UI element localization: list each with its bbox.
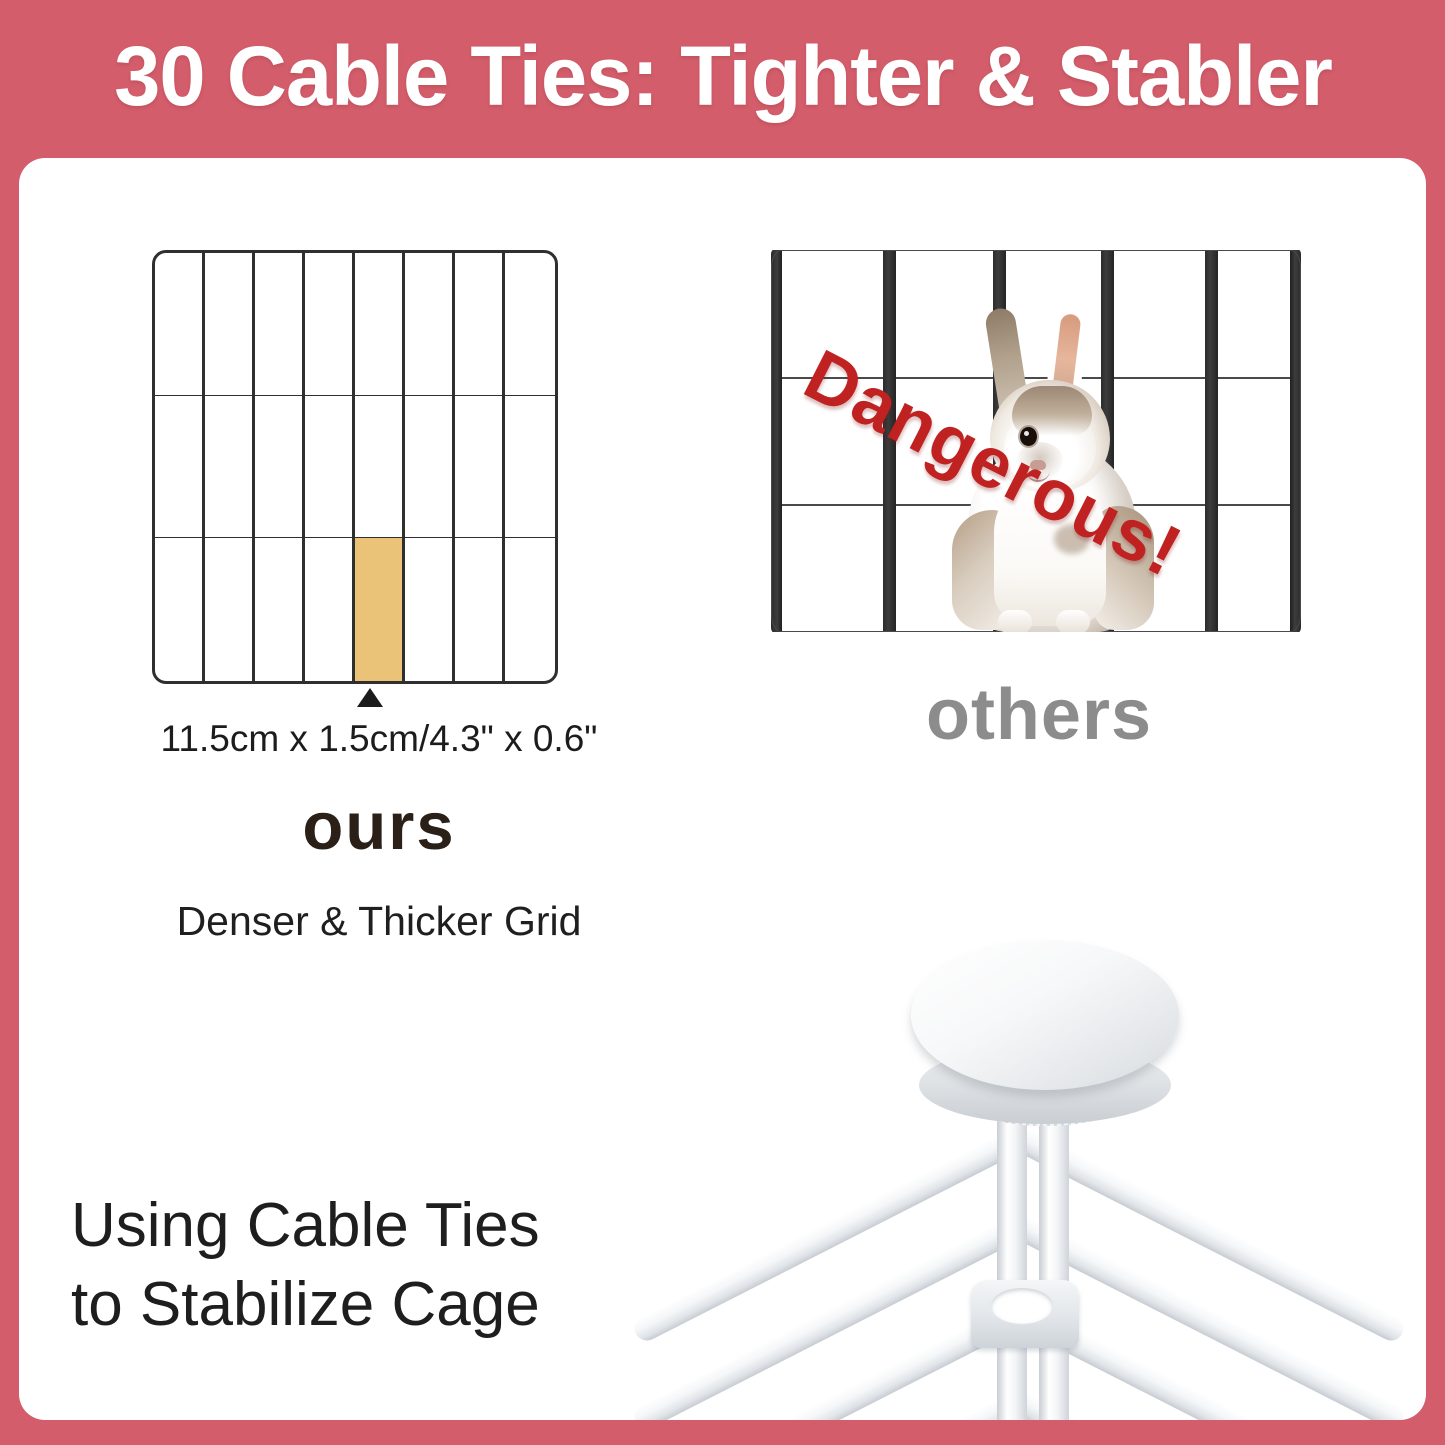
cage-post [1039,1088,1069,1420]
grid-cell [355,396,405,539]
page-title: 30 Cable Ties: Tighter & Stabler [114,34,1332,118]
up-triangle-icon [357,688,383,707]
grid-cell [355,253,405,396]
rabbit-eye-highlight [1024,431,1029,436]
grid-cell [405,396,455,539]
bottom-caption: Using Cable Ties to Stabilize Cage [71,1186,691,1345]
infographic-page: 30 Cable Ties: Tighter & Stabler [0,0,1445,1445]
grid-cell [205,538,255,681]
others-grid-diagram: Dangerous! [771,250,1301,632]
ours-comparison-block: 11.5cm x 1.5cm/4.3" x 0.6" ours Denser &… [139,250,619,684]
grid-cell [205,253,255,396]
grid-cell [455,538,505,681]
rabbit-photo [946,302,1156,632]
grid-cell [305,538,355,681]
grid-cell [255,253,305,396]
grid-cell [205,396,255,539]
cage-post [997,1088,1027,1420]
ours-subtitle: Denser & Thicker Grid [139,898,619,945]
ours-grid-diagram [152,250,558,684]
bottom-caption-line-2: to Stabilize Cage [71,1265,691,1344]
bottom-caption-line-1: Using Cable Ties [71,1186,691,1265]
grid-cell [505,396,555,539]
grid-cell [155,396,205,539]
rabbit-foot-left [998,610,1032,632]
others-label: others [759,674,1319,756]
cable-tie-loop [991,1288,1053,1324]
grid-cell [255,538,305,681]
grid-cell [155,538,205,681]
cage-corner-photo [619,928,1426,1420]
rabbit-chest [994,476,1106,626]
rabbit-fur-spot [1054,524,1090,554]
grid-cell [505,538,555,681]
cage-cap [911,940,1179,1090]
grid-cell [255,396,305,539]
grid-cell [405,538,455,681]
header-banner: 30 Cable Ties: Tighter & Stabler [0,0,1445,152]
rabbit-foot-right [1056,610,1090,632]
content-card: 11.5cm x 1.5cm/4.3" x 0.6" ours Denser &… [19,158,1426,1420]
grid-cell [305,396,355,539]
grid-cell [455,396,505,539]
grid-cell [455,253,505,396]
grid-cell [155,253,205,396]
grid-cell [305,253,355,396]
grid-cell-highlighted [355,538,405,681]
others-comparison-block: Dangerous! others [759,250,1319,632]
ours-label: ours [139,788,619,865]
grid-cell [505,253,555,396]
grid-cell [405,253,455,396]
ours-dimensions-text: 11.5cm x 1.5cm/4.3" x 0.6" [139,718,619,760]
rabbit-eye [1020,427,1037,446]
